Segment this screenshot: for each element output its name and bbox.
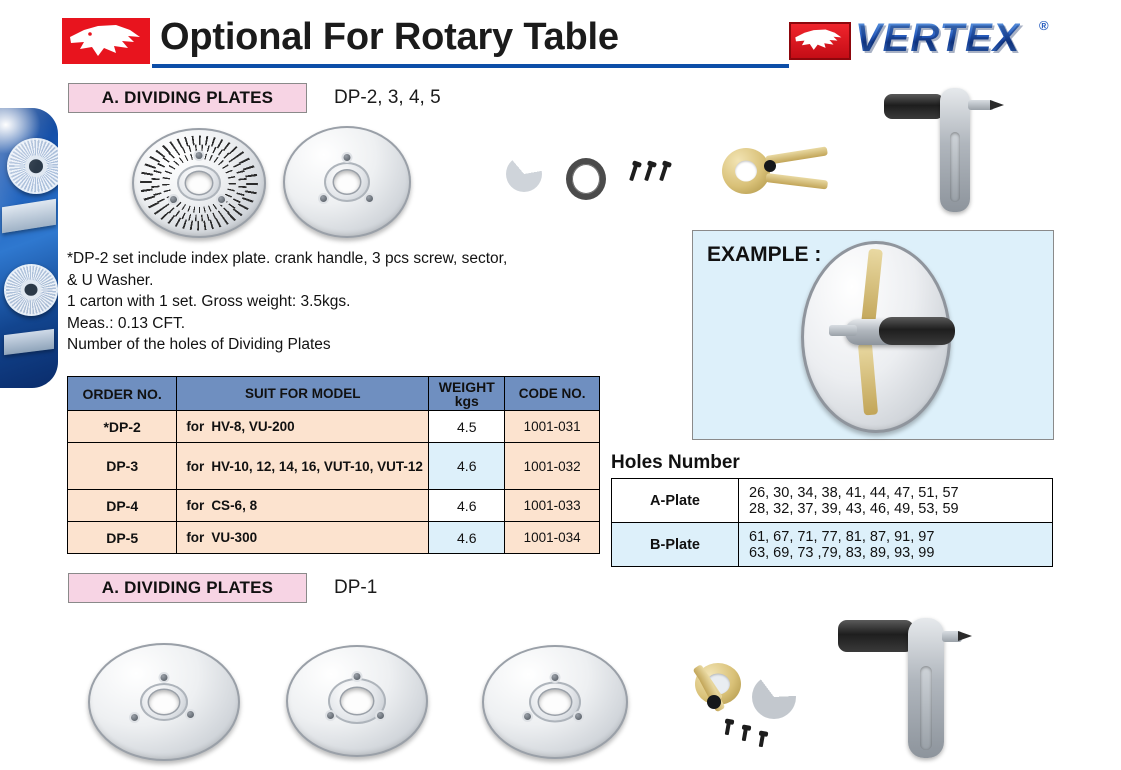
cell-weight: 4.6 (429, 490, 505, 522)
cell-code-no: 1001-033 (505, 490, 600, 522)
page-header: Optional For Rotary Table VERTEX ® (0, 0, 1121, 76)
u-washer-image-bottom (752, 675, 796, 719)
cell-weight: 4.5 (429, 411, 505, 443)
specification-text: *DP-2 set include index plate. crank han… (67, 248, 627, 356)
table-row: DP-5 for VU-300 4.6 1001-034 (68, 522, 600, 554)
cell-plate-holes-line1: 26, 30, 34, 38, 41, 44, 47, 51, 57 (749, 485, 1052, 501)
registered-trademark-icon: ® (1039, 18, 1049, 33)
cell-plate-holes-line2: 28, 32, 37, 39, 43, 46, 49, 53, 59 (749, 501, 1052, 517)
crank-handle-image-top (884, 88, 994, 216)
col-header-weight-line1: WEIGHT (429, 380, 504, 394)
spec-line-2: & U Washer. (67, 270, 627, 292)
cell-model-prefix: for (186, 459, 204, 474)
cell-order-no: DP-4 (68, 490, 177, 522)
table-header-row: ORDER NO. SUIT FOR MODEL WEIGHT kgs CODE… (68, 377, 600, 411)
example-label: EXAMPLE : (707, 243, 821, 267)
col-header-code-no: CODE NO. (505, 377, 600, 411)
table-row: *DP-2 for HV-8, VU-200 4.5 1001-031 (68, 411, 600, 443)
cell-model-prefix: for (186, 498, 204, 513)
dividing-plate-image-bottom-3 (482, 645, 628, 759)
section-tag-dividing-plates-top: A. DIVIDING PLATES (68, 83, 307, 113)
cell-model-value: HV-10, 12, 14, 16, VUT-10, VUT-12 (211, 458, 428, 475)
sector-arms-image-top (722, 146, 832, 198)
brand-eagle-icon (789, 22, 851, 60)
cell-plate-holes: 61, 67, 71, 77, 81, 87, 91, 97 63, 69, 7… (739, 523, 1053, 567)
cell-plate-holes: 26, 30, 34, 38, 41, 44, 47, 51, 57 28, 3… (739, 479, 1053, 523)
cell-plate-name: A-Plate (612, 479, 739, 523)
cell-code-no: 1001-034 (505, 522, 600, 554)
screws-image-bottom (726, 720, 778, 748)
dividing-plate-image-bottom-1 (88, 643, 240, 761)
cell-model-prefix: for (186, 530, 204, 545)
table-row: A-Plate 26, 30, 34, 38, 41, 44, 47, 51, … (612, 479, 1053, 523)
table-row: DP-3 for HV-10, 12, 14, 16, VUT-10, VUT-… (68, 443, 600, 490)
col-header-weight: WEIGHT kgs (429, 377, 505, 411)
cell-order-no: DP-3 (68, 443, 177, 490)
cell-suit-for-model: for HV-10, 12, 14, 16, VUT-10, VUT-12 (177, 443, 429, 490)
spec-line-5: Number of the holes of Dividing Plates (67, 334, 627, 356)
col-header-weight-line2: kgs (429, 394, 504, 408)
u-washer-image-top (506, 156, 542, 192)
cell-code-no: 1001-031 (505, 411, 600, 443)
decorative-photo-strip (0, 108, 58, 388)
section-models-bottom: DP-1 (334, 577, 377, 599)
cell-suit-for-model: for VU-300 (177, 522, 429, 554)
cell-model-value: HV-8, VU-200 (211, 418, 428, 435)
cell-plate-holes-line1: 61, 67, 71, 77, 81, 87, 91, 97 (749, 529, 1052, 545)
title-underline (152, 64, 789, 68)
cell-order-no: DP-5 (68, 522, 177, 554)
section-models-top: DP-2, 3, 4, 5 (334, 87, 441, 109)
spec-line-1: *DP-2 set include index plate. crank han… (67, 248, 627, 270)
strip-glare (0, 108, 58, 388)
crank-handle-image-bottom (838, 618, 966, 758)
table-row: B-Plate 61, 67, 71, 77, 81, 87, 91, 97 6… (612, 523, 1053, 567)
example-panel: EXAMPLE : (692, 230, 1054, 440)
cell-weight: 4.6 (429, 443, 505, 490)
eagle-head-icon (62, 18, 150, 64)
page-title: Optional For Rotary Table (160, 16, 619, 59)
cell-code-no: 1001-032 (505, 443, 600, 490)
cell-plate-name: B-Plate (612, 523, 739, 567)
spec-line-3: 1 carton with 1 set. Gross weight: 3.5kg… (67, 291, 627, 313)
cell-order-no: *DP-2 (68, 411, 177, 443)
col-header-order-no: ORDER NO. (68, 377, 177, 411)
section-tag-dividing-plates-bottom: A. DIVIDING PLATES (68, 573, 307, 603)
spec-line-4: Meas.: 0.13 CFT. (67, 313, 627, 335)
vertex-logo: VERTEX ® (789, 14, 1057, 64)
cell-suit-for-model: for CS-6, 8 (177, 490, 429, 522)
example-crank-shaft (829, 325, 857, 336)
cell-plate-holes-line2: 63, 69, 73 ,79, 83, 89, 93, 99 (749, 545, 1052, 561)
ring-washer-image-top (566, 158, 606, 200)
cell-model-prefix: for (186, 419, 204, 434)
example-crank-knob (879, 317, 955, 345)
col-header-suit-for-model: SUIT FOR MODEL (177, 377, 429, 411)
holes-number-table: A-Plate 26, 30, 34, 38, 41, 44, 47, 51, … (611, 478, 1053, 567)
cell-model-value: CS-6, 8 (211, 497, 428, 514)
dividing-plate-image-top-1 (132, 128, 266, 238)
cell-weight: 4.6 (429, 522, 505, 554)
cell-suit-for-model: for HV-8, VU-200 (177, 411, 429, 443)
table-row: DP-4 for CS-6, 8 4.6 1001-033 (68, 490, 600, 522)
dividing-plate-image-top-2 (283, 126, 411, 238)
dividing-plate-image-bottom-2 (286, 645, 428, 757)
specification-table: ORDER NO. SUIT FOR MODEL WEIGHT kgs CODE… (67, 376, 600, 554)
brand-wordmark: VERTEX (855, 16, 1020, 61)
holes-number-title: Holes Number (611, 452, 740, 474)
screws-image-top (630, 160, 674, 186)
cell-model-value: VU-300 (211, 529, 428, 546)
